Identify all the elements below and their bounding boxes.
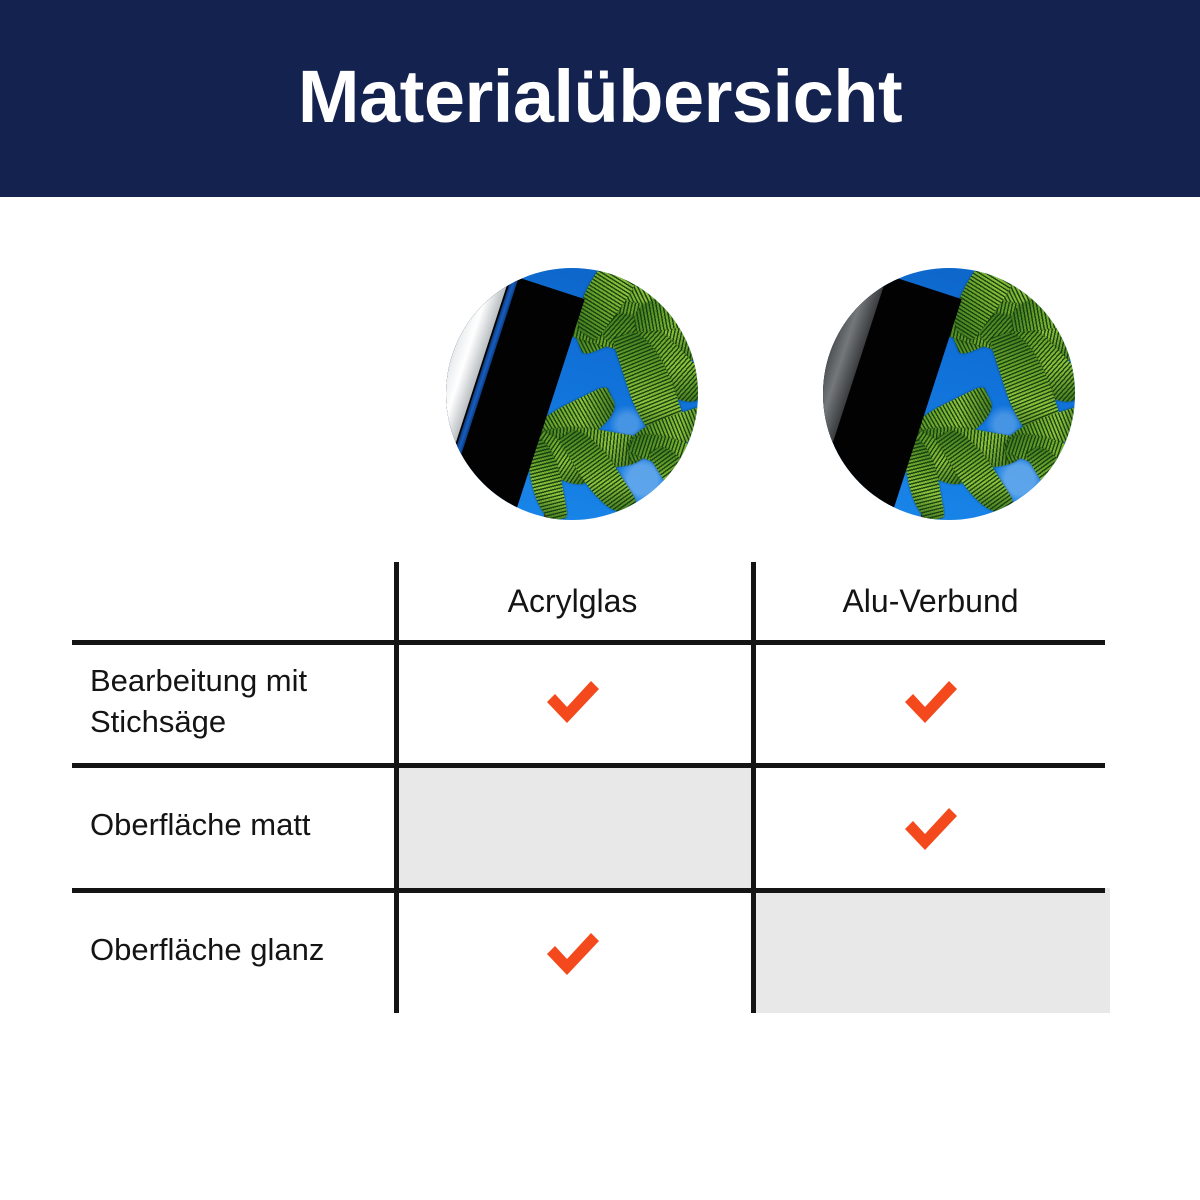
check-icon <box>900 676 962 728</box>
material-overview-page: Materialübersicht <box>0 0 1200 1200</box>
page-title: Materialübersicht <box>298 60 902 134</box>
material-comparison-table: Acrylglas Alu-Verbund Bearbeitung mit St… <box>72 562 1105 1013</box>
check-icon <box>900 803 962 855</box>
column-header-alu-verbund-label: Alu-Verbund <box>842 583 1018 620</box>
check-icon <box>542 928 604 980</box>
cell-acrylglas-oberflaeche-matt-unavailable <box>394 763 751 888</box>
check-alu-verbund-oberflaeche-matt <box>896 799 966 859</box>
cell-alu-verbund-oberflaeche-glanz-unavailable <box>751 888 1110 1013</box>
column-header-alu-verbund: Alu-Verbund <box>751 562 1110 640</box>
page-header: Materialübersicht <box>0 0 1200 197</box>
row-label-oberflaeche-matt: Oberfläche matt <box>90 763 390 888</box>
row-label-bearbeitung-mit-stichsaege: Bearbeitung mit Stichsäge <box>90 640 390 763</box>
material-sample-row <box>0 268 1200 522</box>
acrylglas-sample-inner <box>446 268 698 520</box>
column-header-acrylglas: Acrylglas <box>394 562 751 640</box>
acrylglas-sample-image <box>446 268 698 520</box>
check-icon <box>542 676 604 728</box>
alu-verbund-sample-inner <box>823 268 1075 520</box>
check-acrylglas-bearbeitung-mit-stichsaege <box>538 672 608 732</box>
check-acrylglas-oberflaeche-glanz <box>538 924 608 984</box>
alu-verbund-sample-image <box>823 268 1075 520</box>
column-header-acrylglas-label: Acrylglas <box>508 583 638 620</box>
row-label-oberflaeche-glanz: Oberfläche glanz <box>90 888 390 1013</box>
check-alu-verbund-bearbeitung-mit-stichsaege <box>896 672 966 732</box>
